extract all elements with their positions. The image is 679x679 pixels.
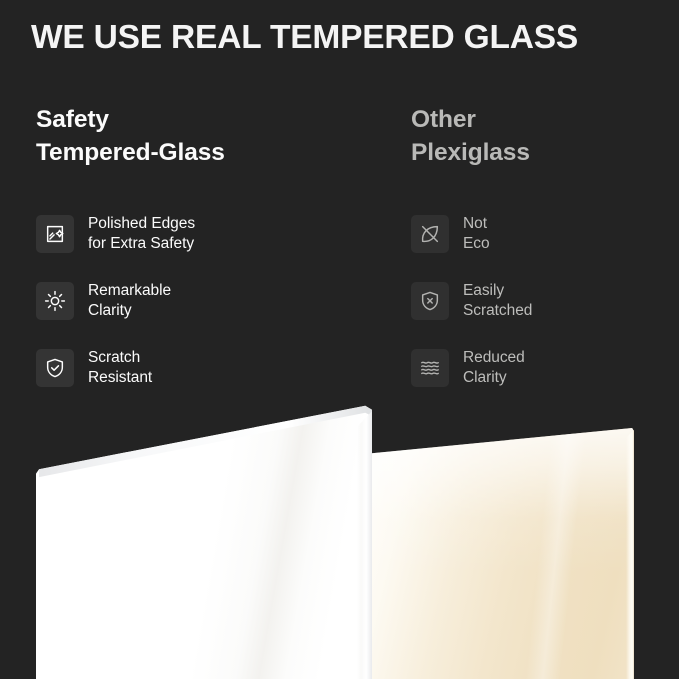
feature-label-polished-edges: Polished Edges for Extra Safety	[88, 214, 195, 254]
feature-line2: Eco	[463, 234, 490, 254]
column-safety-tempered-glass: Safety Tempered-Glass Polished Edges	[36, 104, 366, 169]
sun-clarity-icon	[36, 282, 74, 320]
shield-x-icon	[411, 282, 449, 320]
plexiglass-panel-side-edge	[626, 430, 634, 679]
shield-check-icon	[36, 349, 74, 387]
feature-reduced-clarity: Reduced Clarity	[411, 334, 676, 401]
column-title-line2: Plexiglass	[411, 137, 676, 170]
product-comparison-infographic: WE USE REAL TEMPERED GLASS Safety Temper…	[0, 0, 679, 679]
feature-label-remarkable-clarity: Remarkable Clarity	[88, 281, 171, 321]
feature-remarkable-clarity: Remarkable Clarity	[36, 267, 366, 334]
plexiglass-panel-sheen	[372, 428, 634, 679]
feature-line1: Polished Edges	[88, 215, 195, 232]
column-other-plexiglass: Other Plexiglass Not Eco	[411, 104, 676, 169]
feature-list-other: Not Eco Easily Scratched	[411, 200, 676, 401]
leaf-crossed-out-icon	[411, 215, 449, 253]
tempered-glass-panel-side-edge	[357, 410, 372, 679]
feature-list-safety: Polished Edges for Extra Safety	[36, 200, 366, 401]
feature-polished-edges: Polished Edges for Extra Safety	[36, 200, 366, 267]
feature-line2: for Extra Safety	[88, 234, 195, 254]
feature-scratch-resistant: Scratch Resistant	[36, 334, 366, 401]
feature-label-reduced-clarity: Reduced Clarity	[463, 348, 525, 388]
feature-line1: Easily	[463, 282, 504, 299]
feature-line2: Scratched	[463, 301, 532, 321]
page-title: WE USE REAL TEMPERED GLASS	[31, 18, 671, 58]
column-title-line1: Other	[411, 106, 476, 133]
feature-label-scratch-resistant: Scratch Resistant	[88, 348, 152, 388]
feature-label-not-eco: Not Eco	[463, 214, 490, 254]
polished-edge-sparkle-icon	[36, 215, 74, 253]
tempered-glass-panel	[36, 404, 372, 679]
feature-line2: Clarity	[463, 368, 525, 388]
feature-line2: Clarity	[88, 301, 171, 321]
feature-line1: Reduced	[463, 349, 525, 366]
product-photo	[0, 398, 679, 679]
column-title-line2: Tempered-Glass	[36, 137, 366, 170]
feature-line1: Scratch	[88, 349, 140, 366]
feature-not-eco: Not Eco	[411, 200, 676, 267]
column-title-other: Other Plexiglass	[411, 104, 676, 169]
feature-label-easily-scratched: Easily Scratched	[463, 281, 532, 321]
feature-line1: Not	[463, 215, 487, 232]
column-title-safety: Safety Tempered-Glass	[36, 104, 366, 169]
feature-easily-scratched: Easily Scratched	[411, 267, 676, 334]
column-title-line1: Safety	[36, 106, 109, 133]
comparison-columns: Safety Tempered-Glass Polished Edges	[0, 104, 679, 404]
feature-line2: Resistant	[88, 368, 152, 388]
wavy-lines-icon	[411, 349, 449, 387]
feature-line1: Remarkable	[88, 282, 171, 299]
